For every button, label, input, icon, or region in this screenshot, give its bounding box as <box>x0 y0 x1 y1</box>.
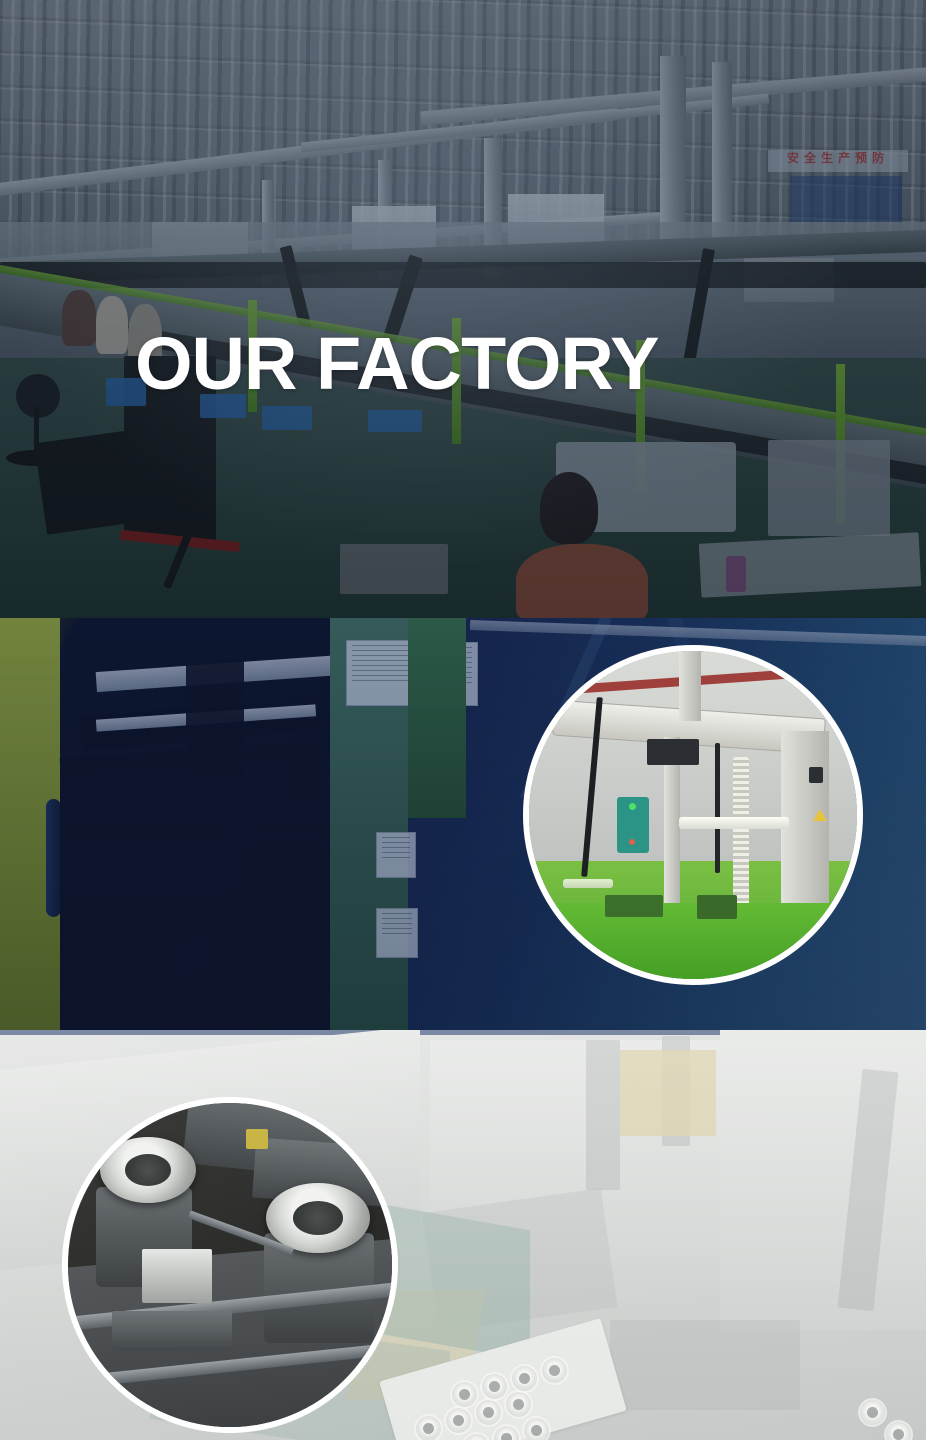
inset-machined-hub <box>100 1137 196 1203</box>
inset-slide-block <box>112 1311 232 1351</box>
blue-tint-overlay <box>0 0 926 618</box>
inset-indicator-green <box>629 803 636 810</box>
inset-cable <box>715 743 720 873</box>
inset-panel-screen <box>809 767 823 783</box>
factory-hall-scene: 安全生产预防 <box>0 0 926 618</box>
injection-molding-panel: INJECTION MOLDING WORKSHOP <box>0 618 926 1030</box>
inset-yellow-tag <box>246 1129 268 1149</box>
inset-cnc-scene <box>68 1103 392 1427</box>
inset-photo-injection-robot <box>523 645 863 985</box>
page-title: OUR FACTORY <box>135 326 658 403</box>
inset-robot-column <box>679 651 701 721</box>
inset-machined-hub <box>266 1183 370 1253</box>
hero-panel: 安全生产预防 <box>0 0 926 618</box>
inset-robot-scene <box>529 651 857 979</box>
warning-triangle-icon <box>813 809 827 821</box>
inset-mould-block <box>697 895 737 919</box>
inset-gripper <box>647 739 699 765</box>
inset-green-platen <box>529 903 857 979</box>
inset-clamp-block <box>142 1249 212 1303</box>
factory-banner-page: 安全生产预防 <box>0 0 926 1440</box>
inset-indicator-red <box>629 839 635 845</box>
inset-mould-block <box>605 895 663 917</box>
inset-fluorescent-lamp <box>679 817 789 829</box>
inset-photo-cnc-fixture <box>62 1097 398 1433</box>
inset-bellows <box>733 757 749 917</box>
inset-fluorescent-lamp <box>563 879 613 888</box>
raw-material-panel: RAW MATERIAL PROCESSING WORKSHOP <box>0 1030 926 1440</box>
